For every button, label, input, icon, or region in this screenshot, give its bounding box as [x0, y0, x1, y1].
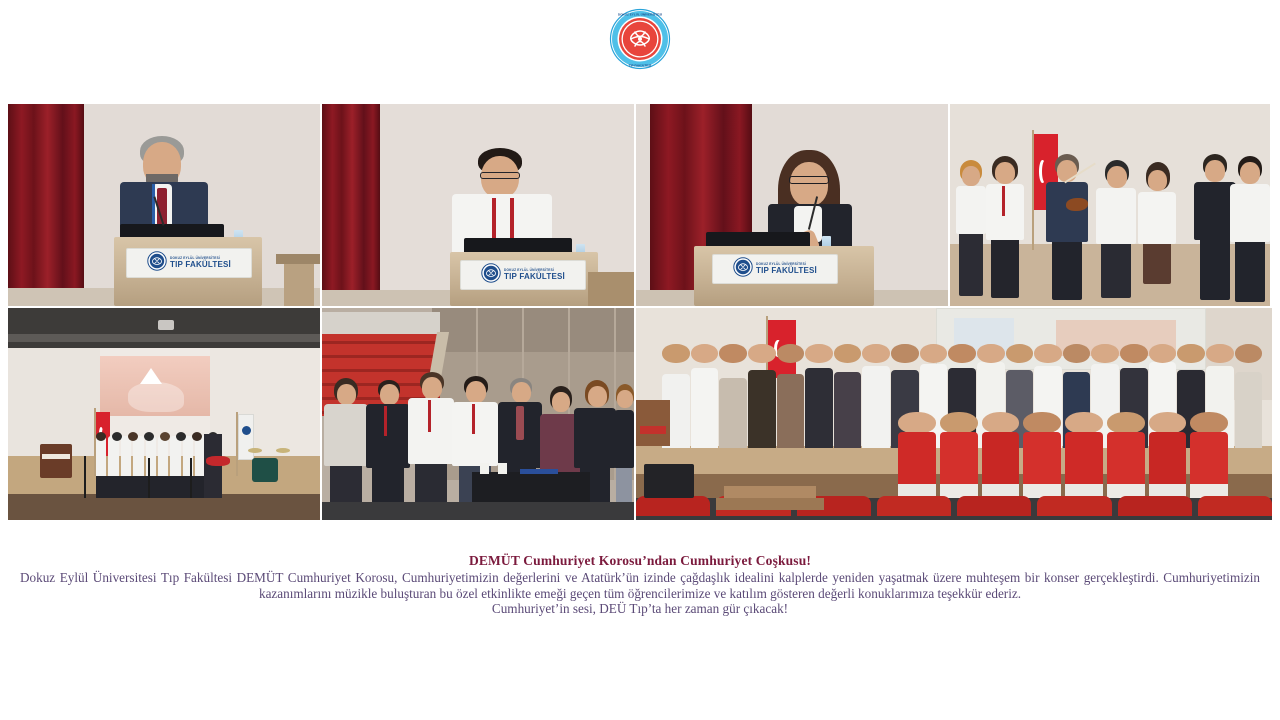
svg-text:TIP FAKÜLTESİ: TIP FAKÜLTESİ — [629, 63, 652, 67]
article-caption: DEMÜT Cumhuriyet Korosu’ndan Cumhuriyet … — [20, 553, 1260, 617]
page-header: DOKUZ EYLÜL ÜNİVERSİTESİ TIP FAKÜLTESİ — [0, 0, 1280, 104]
gallery-photo-stage-applause[interactable] — [950, 104, 1270, 306]
podium-sign-line2: TIP FAKÜLTESİ — [170, 261, 231, 269]
svg-text:DOKUZ EYLÜL ÜNİVERSİTESİ: DOKUZ EYLÜL ÜNİVERSİTESİ — [618, 12, 662, 16]
podium-seal-icon — [147, 251, 167, 276]
deu-tip-fakultesi-seal-icon[interactable]: DOKUZ EYLÜL ÜNİVERSİTESİ TIP FAKÜLTESİ — [609, 8, 671, 70]
caption-closing: Cumhuriyet’in sesi, DEÜ Tıp’ta her zaman… — [20, 601, 1260, 617]
podium-sign: DOKUZ EYLÜL ÜNİVERSİTESİ TIP FAKÜLTESİ — [126, 248, 252, 278]
podium-seal-icon — [733, 257, 753, 282]
gallery-photo-choir-concert[interactable] — [8, 308, 320, 520]
gallery-row-top: DOKUZ EYLÜL ÜNİVERSİTESİ TIP FAKÜLTESİ — [8, 104, 1272, 306]
caption-paragraph: Dokuz Eylül Üniversitesi Tıp Fakültesi D… — [20, 570, 1260, 601]
podium-seal-icon — [481, 263, 501, 288]
gallery-row-bottom — [8, 308, 1272, 520]
podium-sign: DOKUZ EYLÜL ÜNİVERSİTESİ TIP FAKÜLTESİ — [460, 260, 586, 290]
gallery-photo-speaker-woman[interactable]: DOKUZ EYLÜL ÜNİVERSİTESİ TIP FAKÜLTESİ — [636, 104, 948, 306]
photo-gallery: DOKUZ EYLÜL ÜNİVERSİTESİ TIP FAKÜLTESİ — [8, 104, 1272, 520]
gallery-photo-audience-ovation[interactable] — [322, 308, 634, 520]
podium-sign-line2: TIP FAKÜLTESİ — [756, 267, 817, 275]
podium-sign-line2: TIP FAKÜLTESİ — [504, 273, 565, 281]
gallery-photo-speaker-suit[interactable]: DOKUZ EYLÜL ÜNİVERSİTESİ TIP FAKÜLTESİ — [8, 104, 320, 306]
gallery-photo-speaker-whitecoat[interactable]: DOKUZ EYLÜL ÜNİVERSİTESİ TIP FAKÜLTESİ — [322, 104, 634, 306]
podium-sign: DOKUZ EYLÜL ÜNİVERSİTESİ TIP FAKÜLTESİ — [712, 254, 838, 284]
caption-title: DEMÜT Cumhuriyet Korosu’ndan Cumhuriyet … — [20, 553, 1260, 569]
gallery-photo-group-portrait[interactable] — [636, 308, 1272, 520]
